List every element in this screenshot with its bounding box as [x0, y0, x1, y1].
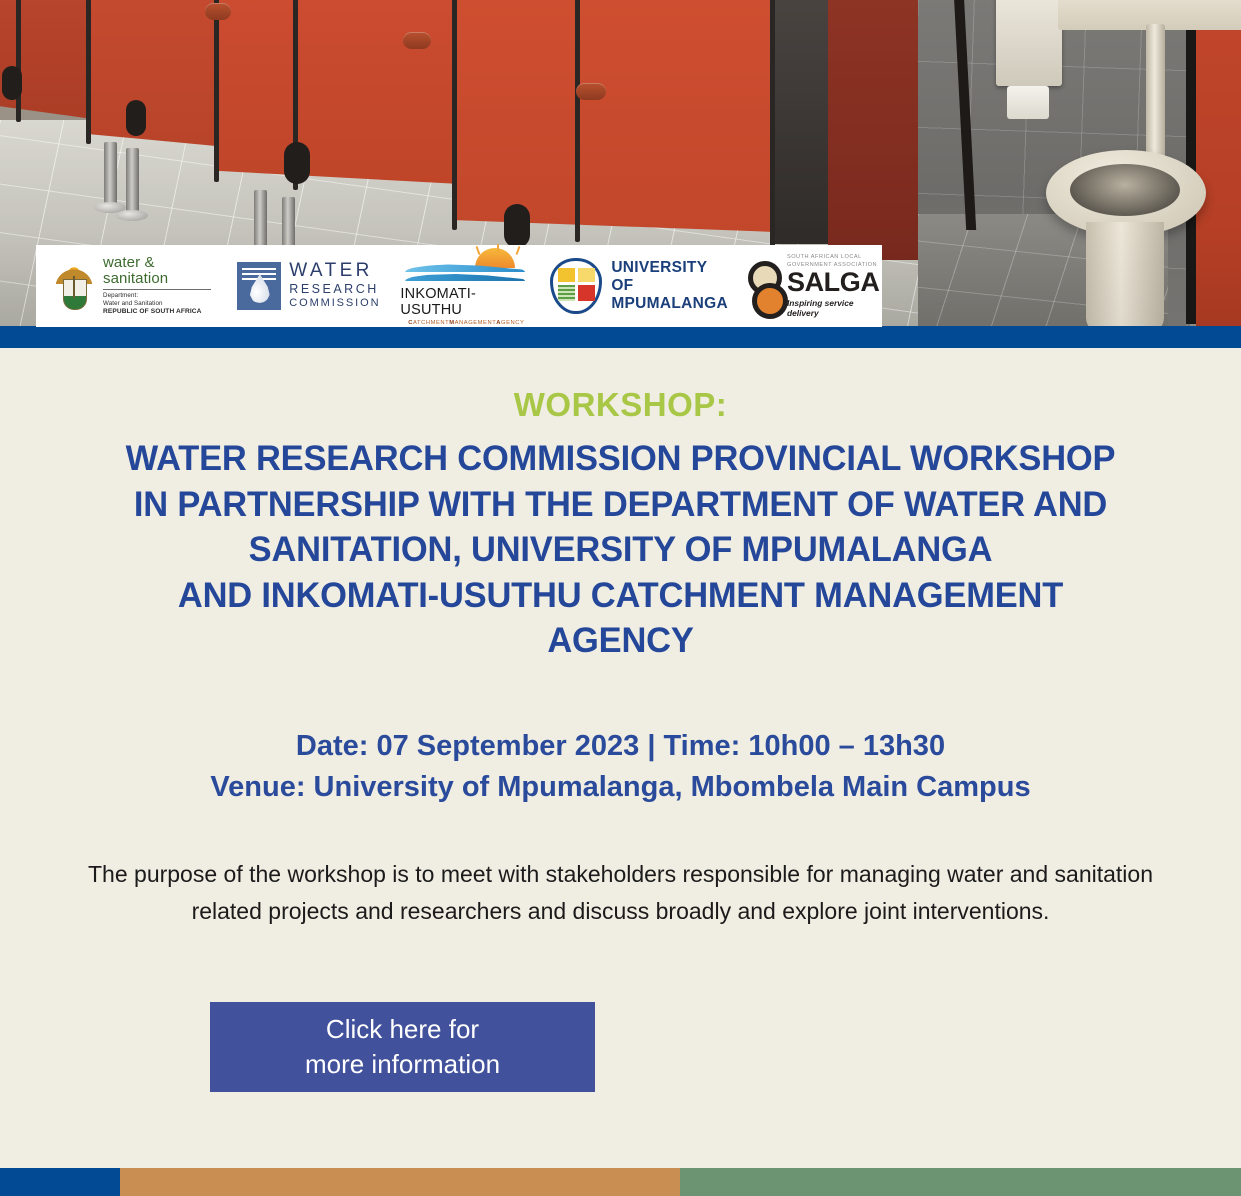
iucma-logo-title: INKOMATI-USUTHU [400, 286, 532, 318]
workshop-purpose-text: The purpose of the workshop is to meet w… [0, 856, 1241, 931]
headline-line-3: SANITATION, UNIVERSITY OF MPUMALANGA [53, 527, 1189, 573]
wrc-logo-line3: COMMISSION [289, 297, 380, 311]
salga-figure-eight-icon [746, 260, 780, 312]
salga-logo: SOUTH AFRICAN LOCAL GOVERNMENT ASSOCIATI… [746, 245, 882, 327]
water-research-commission-logo: WATER RESEARCH COMMISSION [237, 245, 380, 327]
footer-segment-orange [120, 1168, 680, 1196]
inkomati-usuthu-cma-logo: INKOMATI-USUTHU CATCHMENTMANAGEMENTAGENC… [400, 245, 532, 327]
poster-content: WORKSHOP: WATER RESEARCH COMMISSION PROV… [0, 348, 1241, 1092]
water-drop-icon [237, 262, 281, 310]
cta-container: Click here for more information [0, 1002, 1241, 1092]
headline-line-2: IN PARTNERSHIP WITH THE DEPARTMENT OF WA… [53, 482, 1189, 528]
cta-line-2: more information [305, 1047, 500, 1082]
iucma-logo-subtitle: CATCHMENTMANAGEMENTAGENCY [408, 320, 524, 326]
footer-segment-green [680, 1168, 1241, 1196]
ump-logo-line2: MPUMALANGA [611, 295, 728, 313]
university-of-mpumalanga-logo: UNIVERSITY OF MPUMALANGA [550, 245, 728, 327]
headline-line-1: WATER RESEARCH COMMISSION PROVINCIAL WOR… [53, 436, 1189, 482]
department-of-water-and-sanitation-logo: water & sanitation Department: Water and… [36, 245, 217, 327]
wrc-logo-line2: RESEARCH [289, 282, 380, 298]
salga-logo-small1: SOUTH AFRICAN LOCAL [787, 254, 882, 262]
event-details: Date: 07 September 2023 | Time: 10h00 – … [0, 726, 1241, 808]
page-title: WATER RESEARCH COMMISSION PROVINCIAL WOR… [9, 436, 1231, 664]
salga-tagline: Inspiring service delivery [787, 298, 882, 318]
south-african-coat-of-arms-icon [52, 260, 96, 312]
footer-segment-blue [0, 1168, 120, 1196]
dws-logo-sub1: Department: [103, 292, 217, 300]
headline-line-4: AND INKOMATI-USUTHU CATCHMENT MANAGEMENT [53, 573, 1189, 619]
salga-wordmark: SALGA [787, 270, 882, 296]
workshop-kicker: WORKSHOP: [0, 386, 1241, 424]
event-venue: Venue: University of Mpumalanga, Mbombel… [0, 767, 1241, 808]
more-information-button[interactable]: Click here for more information [210, 1002, 595, 1092]
blue-divider-bar [0, 326, 1241, 348]
dws-logo-sub2: Water and Sanitation [103, 300, 217, 308]
dws-logo-sub3: REPUBLIC OF SOUTH AFRICA [103, 308, 217, 317]
wrc-logo-line1: WATER [289, 261, 380, 282]
event-date-time: Date: 07 September 2023 | Time: 10h00 – … [0, 726, 1241, 767]
headline-line-5: AGENCY [53, 618, 1189, 664]
sunrise-over-water-icon [403, 246, 529, 284]
ump-logo-line1: UNIVERSITY OF [611, 259, 728, 295]
partner-logo-strip: water & sanitation Department: Water and… [36, 245, 882, 327]
cta-line-1: Click here for [326, 1012, 479, 1047]
footer-color-bar [0, 1168, 1241, 1196]
dws-logo-title: water & sanitation [103, 255, 217, 287]
dws-logo-rule [103, 289, 211, 290]
university-crest-icon [550, 258, 602, 314]
